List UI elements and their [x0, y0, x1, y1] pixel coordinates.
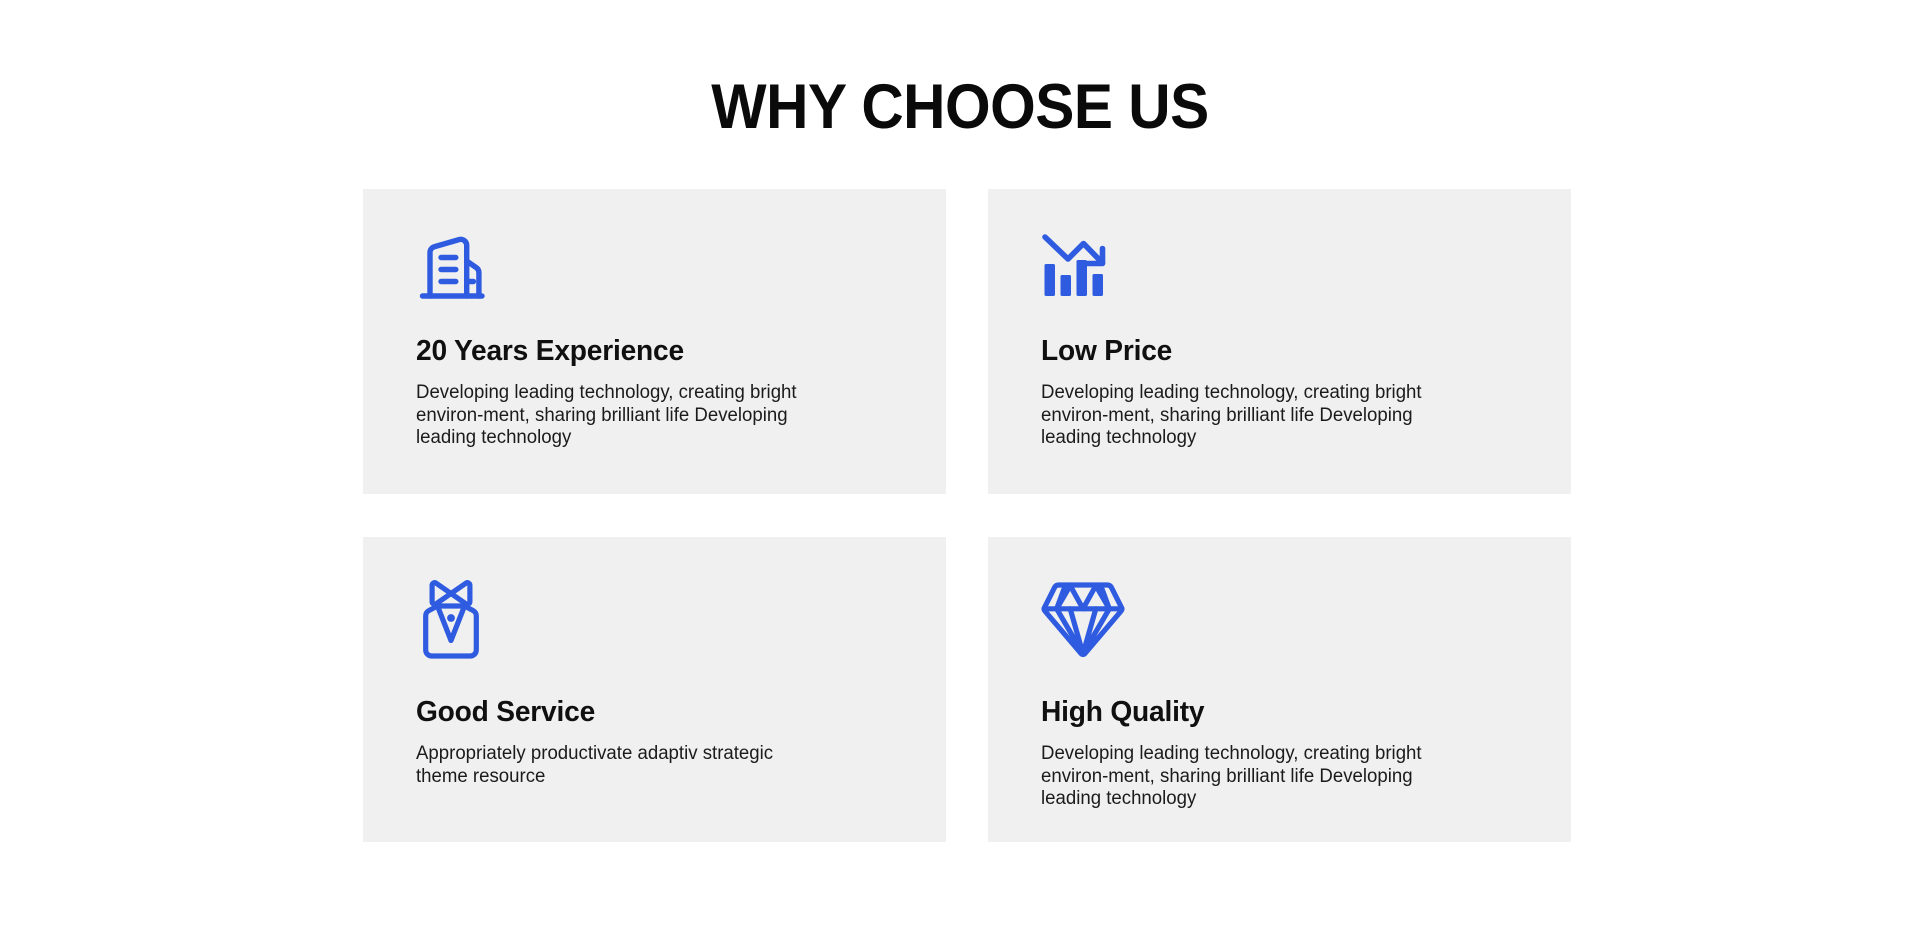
card-description: Appropriately productivate adaptiv strat…: [416, 743, 823, 788]
feature-card-low-price[interactable]: Low Price Developing leading technology,…: [988, 189, 1571, 494]
card-title: Good Service: [416, 695, 891, 729]
feature-card-20-years-experience[interactable]: 20 Years Experience Developing leading t…: [363, 189, 946, 494]
office-building-icon: [416, 230, 906, 306]
card-content: Good Service Appropriately productivate …: [416, 577, 906, 788]
card-title: High Quality: [1041, 695, 1516, 729]
diamond-icon: [1041, 577, 1531, 663]
why-choose-us-section: WHY CHOOSE US 20 Years Experience: [0, 0, 1920, 930]
card-title: 20 Years Experience: [416, 334, 891, 368]
card-description: Developing leading technology, creating …: [1041, 743, 1448, 811]
card-content: Low Price Developing leading technology,…: [1041, 230, 1531, 450]
feature-card-good-service[interactable]: Good Service Appropriately productivate …: [363, 537, 946, 842]
bowtie-suit-icon: [416, 577, 906, 663]
page-title: WHY CHOOSE US: [67, 72, 1853, 142]
feature-card-grid: 20 Years Experience Developing leading t…: [363, 189, 1571, 842]
card-description: Developing leading technology, creating …: [1041, 382, 1448, 450]
card-description: Developing leading technology, creating …: [416, 382, 823, 450]
card-title: Low Price: [1041, 334, 1516, 368]
card-content: High Quality Developing leading technolo…: [1041, 577, 1531, 811]
feature-card-high-quality[interactable]: High Quality Developing leading technolo…: [988, 537, 1571, 842]
card-content: 20 Years Experience Developing leading t…: [416, 230, 906, 450]
declining-bar-chart-icon: [1041, 230, 1531, 306]
